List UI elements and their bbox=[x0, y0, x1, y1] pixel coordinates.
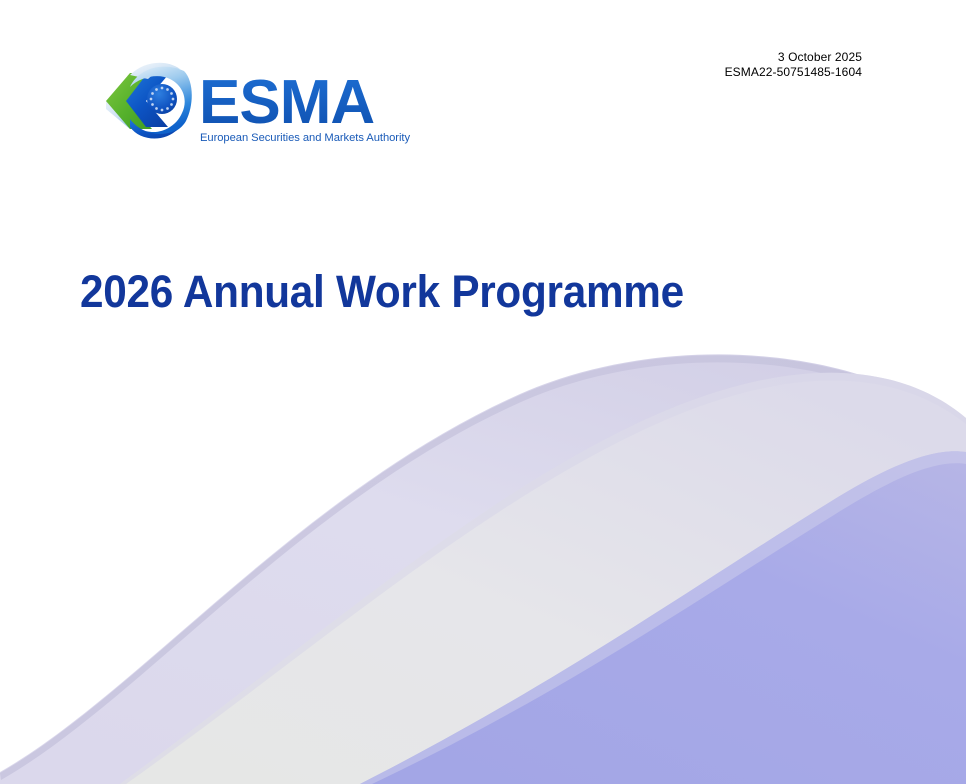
wordmark-tagline: European Securities and Markets Authorit… bbox=[200, 132, 410, 144]
esma-logo: ESMA European Securities and Markets Aut… bbox=[100, 57, 420, 149]
document-meta: 3 October 2025 ESMA22-50751485-1604 bbox=[725, 50, 862, 80]
esma-eye-logo-icon bbox=[100, 57, 192, 149]
decorative-wave-graphic bbox=[0, 352, 966, 784]
wordmark-text: ESMA bbox=[199, 68, 374, 137]
document-reference: ESMA22-50751485-1604 bbox=[725, 65, 862, 80]
esma-wordmark: ESMA European Securities and Markets Aut… bbox=[190, 65, 420, 147]
page-title: 2026 Annual Work Programme bbox=[80, 266, 684, 318]
document-date: 3 October 2025 bbox=[725, 50, 862, 65]
cover-page: 3 October 2025 ESMA22-50751485-1604 bbox=[0, 0, 966, 784]
